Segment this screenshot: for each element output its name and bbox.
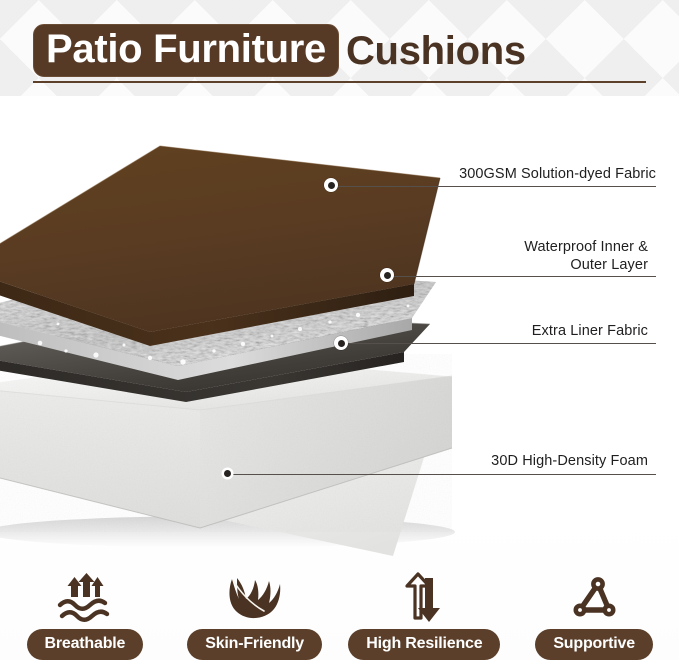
callout-line-liner xyxy=(344,343,656,344)
callout-dot-waterproof xyxy=(380,268,394,282)
title-rest: Cushions xyxy=(339,29,526,73)
feature-high-resilience[interactable]: High Resilience xyxy=(340,556,510,660)
feature-skin-friendly[interactable]: Skin-Friendly xyxy=(170,556,340,660)
callout-line-fabric xyxy=(334,186,656,187)
feature-badges: Breathable Skin-Friendly High Resilience xyxy=(0,556,679,660)
title-area: Patio Furniture Cushions xyxy=(0,0,679,96)
callout-dot-fabric xyxy=(324,178,338,192)
title-divider xyxy=(33,81,646,83)
feature-label-supportive[interactable]: Supportive xyxy=(535,629,653,660)
feature-label-high-resilience[interactable]: High Resilience xyxy=(348,629,500,660)
feature-label-skin-friendly[interactable]: Skin-Friendly xyxy=(187,629,322,660)
up-down-arrows-icon xyxy=(399,572,449,624)
callout-dot-liner xyxy=(334,336,348,350)
callout-dot-foam xyxy=(224,470,231,477)
page-title: Patio Furniture Cushions xyxy=(33,24,526,77)
callout-label-foam: 30D High-Density Foam xyxy=(396,452,648,470)
callout-label-liner: Extra Liner Fabric xyxy=(396,322,648,340)
callout-line-foam xyxy=(232,474,656,475)
infographic-page: Patio Furniture Cushions xyxy=(0,0,679,660)
airflow-waves-icon xyxy=(55,572,115,624)
title-badge: Patio Furniture xyxy=(33,24,339,77)
feature-label-breathable[interactable]: Breathable xyxy=(27,629,144,660)
callout-label-waterproof: Waterproof Inner & Outer Layer xyxy=(396,238,648,274)
callout-line-waterproof xyxy=(390,276,656,277)
feature-breathable[interactable]: Breathable xyxy=(0,556,170,660)
feather-icon xyxy=(224,572,286,624)
feature-supportive[interactable]: Supportive xyxy=(509,556,679,660)
callout-label-fabric: 300GSM Solution-dyed Fabric xyxy=(396,165,656,183)
triangle-nodes-icon xyxy=(568,572,620,624)
